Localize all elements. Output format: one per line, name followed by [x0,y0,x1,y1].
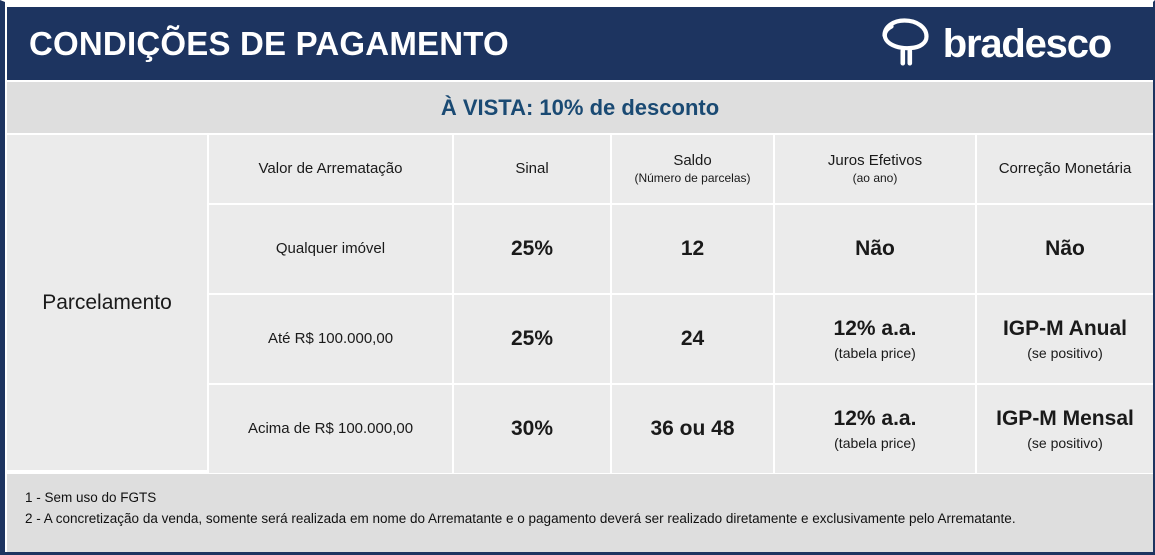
table-row: Até R$ 100.000,00 25% 24 12% a.a. (tabel… [209,295,1153,383]
column-header-juros: Juros Efetivos (ao ano) [775,135,975,203]
column-header-correcao: Correção Monetária [977,135,1153,203]
cell-juros: Não [775,205,975,293]
cell-correcao-subtext: (se positivo) [1027,344,1102,362]
cell-sinal-text: 30% [511,416,553,442]
column-header-correcao-title: Correção Monetária [999,160,1132,179]
column-header-saldo-title: Saldo [673,152,711,171]
cell-saldo-text: 24 [681,326,704,352]
cell-sinal: 30% [454,385,610,473]
cell-sinal-text: 25% [511,236,553,262]
discount-text: À VISTA: 10% de desconto [441,95,719,121]
cell-sinal: 25% [454,205,610,293]
cell-saldo: 12 [612,205,773,293]
cell-juros: 12% a.a. (tabela price) [775,385,975,473]
cell-valor-text: Qualquer imóvel [276,239,385,259]
column-header-juros-subtitle: (ao ano) [853,171,898,186]
cell-saldo-text: 12 [681,236,704,262]
cell-correcao-subtext: (se positivo) [1027,434,1102,452]
column-header-sinal-title: Sinal [515,160,548,179]
discount-banner: À VISTA: 10% de desconto [7,82,1153,133]
payment-conditions-card: CONDIÇÕES DE PAGAMENTO bradesco À VISTA:… [0,0,1155,555]
cell-sinal: 25% [454,295,610,383]
brand-logo: bradesco [876,18,1135,70]
cell-correcao: Não [977,205,1153,293]
cell-correcao-text: Não [1045,236,1085,262]
cell-correcao-text: IGP-M Mensal [996,406,1134,432]
cell-saldo-text: 36 ou 48 [650,416,734,442]
conditions-table: Parcelamento Valor de Arrematação Sinal … [7,135,1153,470]
cell-correcao-text: IGP-M Anual [1003,316,1127,342]
brand-name: bradesco [943,24,1111,64]
cell-juros-text: 12% a.a. [834,316,917,342]
footnotes-section: 1 - Sem uso do FGTS 2 - A concretização … [7,474,1153,552]
cell-juros-subtext: (tabela price) [834,434,916,452]
table-row: Qualquer imóvel 25% 12 Não Não [209,205,1153,293]
column-header-valor: Valor de Arrematação [209,135,452,203]
cell-valor-text: Até R$ 100.000,00 [268,329,393,349]
row-group-label-text: Parcelamento [42,291,172,315]
cell-correcao: IGP-M Mensal (se positivo) [977,385,1153,473]
cell-correcao: IGP-M Anual (se positivo) [977,295,1153,383]
column-header-saldo-subtitle: (Número de parcelas) [634,171,750,186]
cell-juros-text: 12% a.a. [834,406,917,432]
cell-saldo: 24 [612,295,773,383]
page-title: CONDIÇÕES DE PAGAMENTO [29,25,509,63]
table-header-row: Valor de Arrematação Sinal Saldo (Número… [209,135,1153,203]
column-header-saldo: Saldo (Número de parcelas) [612,135,773,203]
cell-saldo: 36 ou 48 [612,385,773,473]
cell-juros-subtext: (tabela price) [834,344,916,362]
column-header-juros-title: Juros Efetivos [828,152,922,171]
table-row: Acima de R$ 100.000,00 30% 36 ou 48 12% … [209,385,1153,473]
table-grid: Valor de Arrematação Sinal Saldo (Número… [209,135,1153,470]
table-row-group-label: Parcelamento [7,135,207,470]
cell-valor: Até R$ 100.000,00 [209,295,452,383]
column-header-valor-title: Valor de Arrematação [259,160,403,179]
cell-valor-text: Acima de R$ 100.000,00 [248,419,413,439]
footnote-item: 2 - A concretização da venda, somente se… [25,509,1153,530]
cell-juros: 12% a.a. (tabela price) [775,295,975,383]
cell-valor: Acima de R$ 100.000,00 [209,385,452,473]
cell-sinal-text: 25% [511,326,553,352]
footnote-item: 1 - Sem uso do FGTS [25,488,1153,509]
bradesco-tree-logo-icon [876,18,934,70]
header-bar: CONDIÇÕES DE PAGAMENTO bradesco [7,7,1153,80]
column-header-sinal: Sinal [454,135,610,203]
cell-valor: Qualquer imóvel [209,205,452,293]
cell-juros-text: Não [855,236,895,262]
